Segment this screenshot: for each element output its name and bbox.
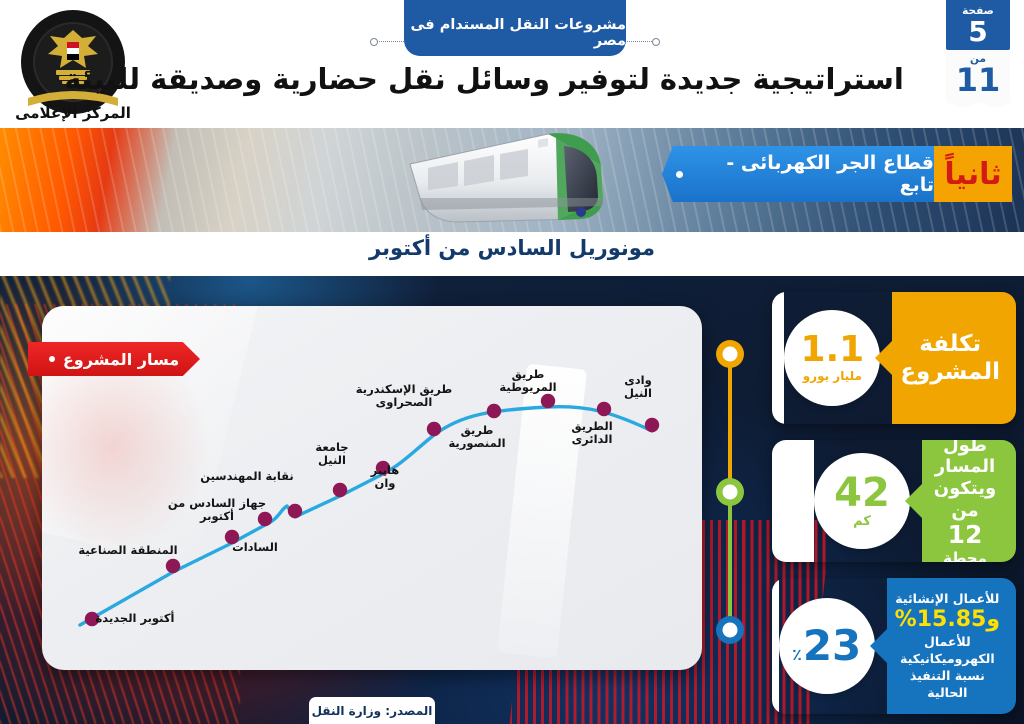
stat-card-length-count: 12 [948,521,983,550]
station-label: السادات [200,541,310,554]
series-title-text: مشروعات النقل المستدام فى مصر [404,17,626,49]
stat-card-cost[interactable]: تكلفة المشروع 1.1 مليار يورو [772,292,1016,424]
stat-card-cost-unit: مليار يورو [803,369,862,383]
stat-card-length-unit: كم [853,514,871,529]
station-label: طريق المنصورية [422,424,532,450]
station-dot[interactable] [166,559,180,573]
station-label: المنطقة الصناعية [73,544,183,557]
stat-card-cost-value-circle: 1.1 مليار يورو [784,310,880,406]
station-dot[interactable] [487,404,501,418]
stat-card-length-body: طول المسار ويتكون من 12 محطة [922,440,1016,562]
bullet-icon [49,356,55,362]
stat-card-cost-value: 1.1 [800,333,864,367]
stat-card-length-value: 42 [834,474,890,512]
stat-card-cost-body: تكلفة المشروع [892,292,1016,424]
stat-card-progress[interactable]: للأعمال الإنشائية و15.85% للأعمال الكهرو… [772,578,1016,714]
source-label: المصدر: وزارة النقل [309,697,435,724]
station-dot[interactable] [288,504,302,518]
station-label: جهاز السادس من أكتوبر [162,497,272,523]
connector-knob-right [652,38,660,46]
page-title: استراتيجية جديدة لتوفير وسائل نقل حضارية… [64,62,904,96]
pill-connector-left [372,41,408,42]
svg-text:المركز الإعلامى: المركز الإعلامى [15,104,131,122]
route-tag-text: مسار المشروع [63,350,179,369]
station-label: أكتوبر الجديدة [80,612,190,625]
station-label: الطريق الدائرى [537,420,647,446]
stat-card-progress-body: للأعمال الإنشائية و15.85% للأعمال الكهرو… [887,578,1016,714]
page-badge-current: صفحة 5 [946,0,1010,50]
stat-card-progress-unit: ٪ [792,645,802,664]
stat-card-length[interactable]: طول المسار ويتكون من 12 محطة 42 كم [772,440,1016,562]
stat-card-progress-line1: للأعمال الإنشائية [895,591,999,608]
card-white-pad [772,292,784,424]
stat-card-progress-highlight: و15.85% [895,607,1000,633]
station-dot[interactable] [541,394,555,408]
connector-knob-left [370,38,378,46]
stat-card-progress-value: 23 [803,626,861,666]
stat-card-length-count-unit: محطة [943,550,987,562]
section-title: قطاع الجر الكهربائى - تابع [662,146,934,202]
project-title: مونوريل السادس من أكتوبر [0,236,1024,260]
section-bar: ثانياً قطاع الجر الكهربائى - تابع [662,146,1012,202]
page-badge-total: من 11 [946,50,1010,108]
stat-card-progress-line3: الكهروميكانيكية [900,651,995,668]
infographic-canvas: المركز الإعلامى مشروعات النقل المستدام ف… [0,0,1024,724]
callout-notch-icon [905,483,923,519]
card-white-pad [772,578,779,714]
callout-notch-icon [870,628,888,664]
page-total: 11 [946,64,1010,98]
stat-card-progress-line4: نسبة التنفيذ الحالية [895,668,1000,702]
card-connector-rail [716,326,752,646]
page-badge: صفحة 5 من 11 [946,0,1010,108]
station-dot[interactable] [597,402,611,416]
monorail-train-image [398,126,638,236]
stat-card-progress-line2: للأعمال [924,634,971,651]
bullet-icon [676,171,683,178]
card-white-pad [772,440,814,562]
station-label: طريق المريوطية [473,368,583,394]
station-label: هايبر وان [330,464,440,490]
station-label: وادى النيل [583,374,693,400]
stat-card-progress-value-circle: 23 ٪ [779,598,875,694]
stat-card-cost-title: تكلفة المشروع [900,330,1000,386]
callout-notch-icon [875,340,893,376]
station-label: طريق الإسكندرية الصحراوى [349,383,459,409]
section-title-text: قطاع الجر الكهربائى - تابع [691,152,934,196]
page-number: 5 [946,17,1010,46]
stat-card-length-value-circle: 42 كم [814,453,910,549]
section-number: ثانياً [934,146,1012,202]
stat-card-length-title: طول المسار ويتكون من [930,440,1000,521]
series-title-pill: مشروعات النقل المستدام فى مصر [404,0,626,56]
pill-connector-right [622,41,658,42]
station-label: نقابة المهندسين [192,470,302,483]
route-tag: مسار المشروع [28,342,200,376]
